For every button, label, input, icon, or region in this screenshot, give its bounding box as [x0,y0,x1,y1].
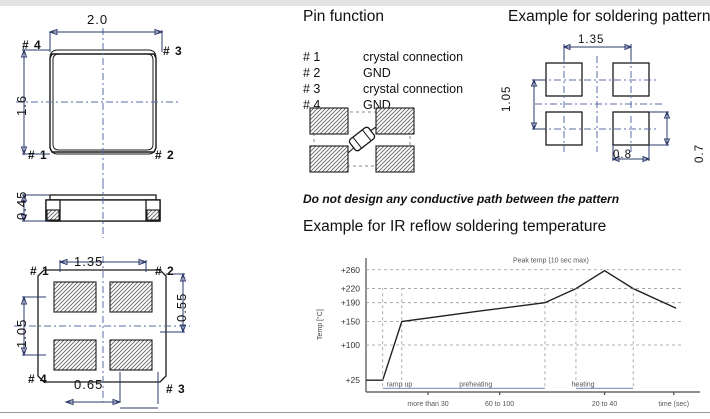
top-view-height-label: 1.6 [14,95,29,116]
pin-function-text: crystal connection [363,82,463,96]
table-row: # 1 crystal connection [303,50,463,64]
soldering-pattern-title: Example for soldering pattern [508,8,710,26]
table-row: # 3 crystal connection [303,82,463,96]
reflow-temperature-chart: Temp [°C] +260+220+190+150+100+25 more t… [300,252,710,412]
chart-y-tick-label: +220 [341,284,360,294]
pin-function-table: # 1 crystal connection # 2 GND # 3 cryst… [303,50,463,112]
bottom-view-pin-3: # 3 [166,382,186,396]
soldering-pitch-x-label: 1.35 [578,34,604,46]
chart-annotation: ramp up [387,381,413,388]
chart-y-tick-label: +25 [346,375,361,385]
pin-label: # 2 [303,66,363,80]
bottom-view-pin-2: # 2 [155,264,175,278]
top-gray-band [0,0,710,6]
conductive-path-warning: Do not design any conductive path betwee… [303,192,619,206]
chart-y-axis-title: Temp [°C] [316,309,324,340]
pin-function-text: GND [363,66,391,80]
chart-y-tick-label: +150 [341,316,360,326]
bottom-view-pin-1: # 1 [30,264,50,278]
chart-x-tick-label: more than 30 [407,401,448,408]
reflow-section-title: Example for IR reflow soldering temperat… [303,218,606,236]
side-view-height-label: 0.45 [14,191,29,220]
chart-x-tick-label: 60 to 100 [485,401,514,408]
pin-function-title: Pin function [303,8,384,26]
chart-y-tick-label: +100 [341,340,360,350]
bottom-view-pin-4: # 4 [28,372,48,386]
chart-x-tick-label: time (sec) [658,401,689,408]
pin-label: # 1 [303,50,363,64]
top-view-pin-3: # 3 [163,44,183,58]
bottom-view-pitch-y-label: 1.05 [14,319,29,348]
top-view-width-label: 2.0 [87,12,108,27]
chart-annotation: Peak temp (10 sec max) [513,258,589,265]
chart-y-tick-label: +190 [341,298,360,308]
pin-label: # 3 [303,82,363,96]
top-view-pin-4: # 4 [22,38,42,52]
chart-annotation: preheating [459,381,492,388]
soldering-pitch-y-label: 1.05 [501,86,513,112]
datasheet-page: 2.0 1.6 # 4 # 3 # 1 # 2 0.45 [0,0,710,419]
soldering-pad-width-label: 0.8 [613,149,632,161]
chart-annotation: heating [572,381,595,388]
bottom-view-pad-height-label: 0.55 [174,293,189,322]
chart-x-tick-label: 20 to 40 [592,401,617,408]
top-view-pin-1: # 1 [28,148,48,162]
bottom-view-pitch-x-label: 1.35 [74,254,103,269]
crystal-connection-diagram [305,105,417,175]
bottom-view-pad-width-label: 0.65 [74,377,103,392]
side-view-drawing [0,182,290,240]
chart-series-line [366,271,676,381]
pin-function-text: crystal connection [363,50,463,64]
table-row: # 2 GND [303,66,463,80]
chart-y-tick-label: +260 [341,265,360,275]
soldering-pattern-drawing [505,30,700,180]
top-view-pin-2: # 2 [155,148,175,162]
soldering-pad-height-label: 0.7 [694,144,706,163]
